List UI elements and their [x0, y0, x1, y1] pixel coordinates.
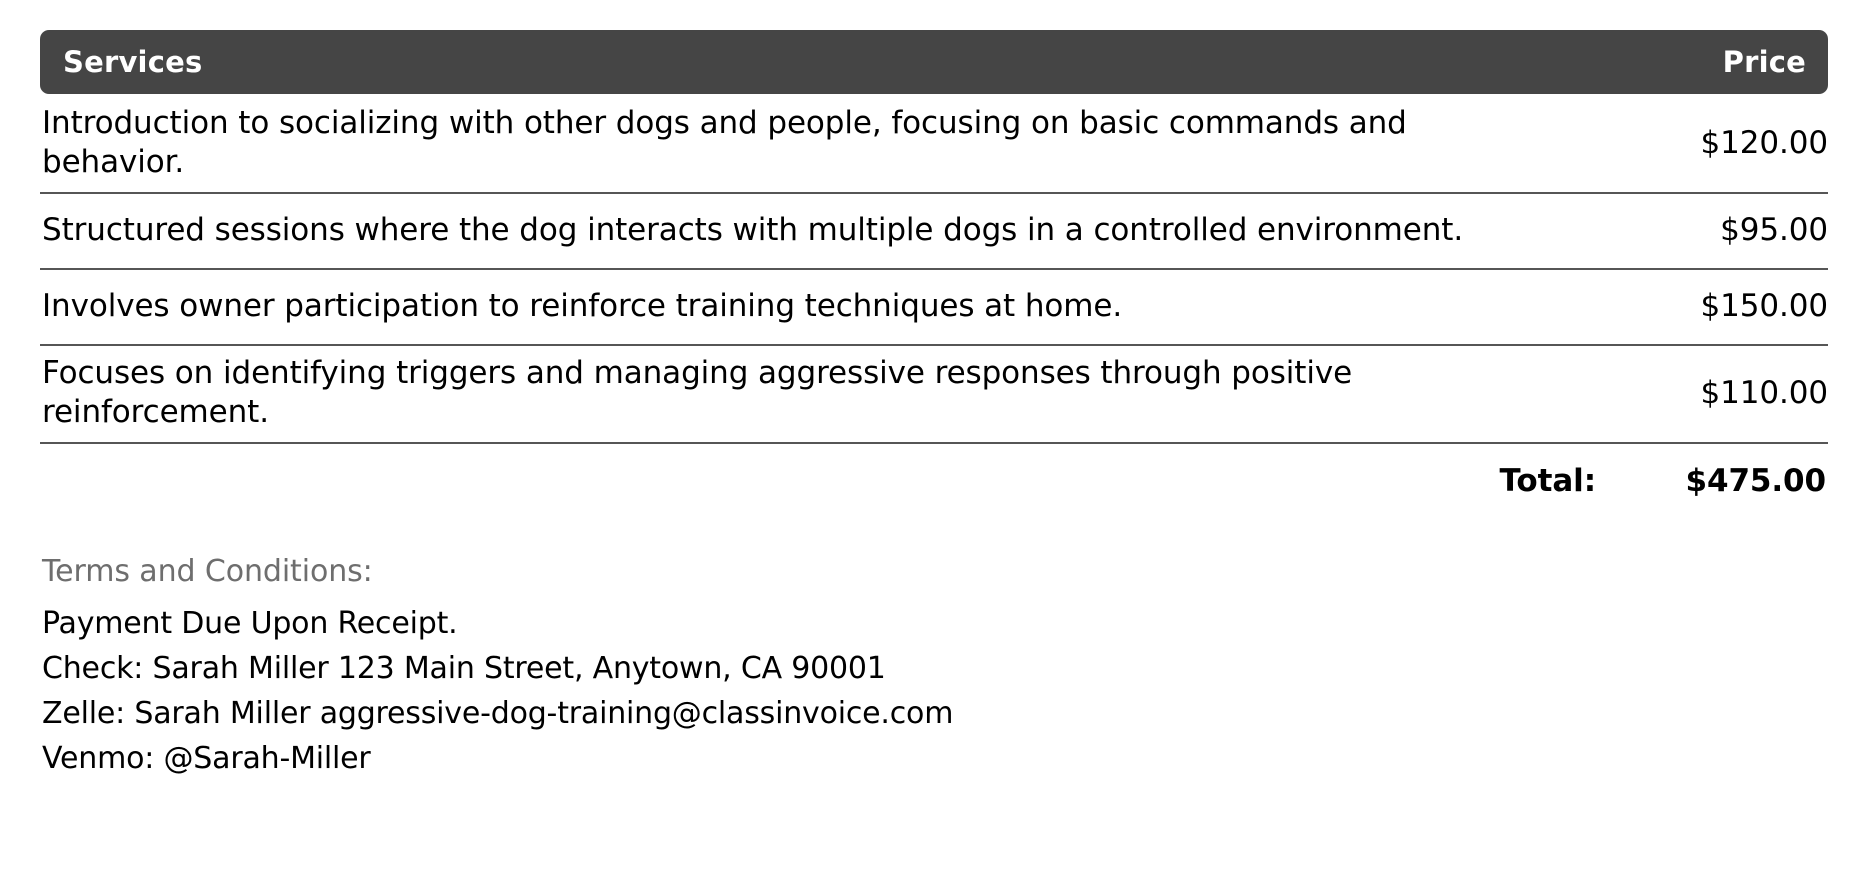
service-price: $120.00 — [1598, 125, 1828, 161]
terms-line-payment-due: Payment Due Upon Receipt. — [42, 601, 1828, 646]
service-price: $95.00 — [1598, 212, 1828, 248]
service-description: Introduction to socializing with other d… — [42, 104, 1532, 182]
total-row: Total: $475.00 — [40, 444, 1828, 518]
table-header-row: Services Price — [40, 30, 1828, 94]
column-header-price: Price — [1723, 48, 1806, 77]
service-description: Focuses on identifying triggers and mana… — [42, 354, 1532, 432]
terms-line-zelle: Zelle: Sarah Miller aggressive-dog-train… — [42, 691, 1828, 736]
service-description: Involves owner participation to reinforc… — [42, 287, 1532, 326]
table-row: Focuses on identifying triggers and mana… — [40, 346, 1828, 444]
terms-and-conditions-section: Terms and Conditions: Payment Due Upon R… — [40, 554, 1828, 781]
service-price: $110.00 — [1598, 375, 1828, 411]
table-row: Structured sessions where the dog intera… — [40, 194, 1828, 270]
services-price-table: Services Price Introduction to socializi… — [40, 0, 1828, 518]
total-label: Total: — [1500, 463, 1597, 499]
table-row: Involves owner participation to reinforc… — [40, 270, 1828, 346]
terms-heading: Terms and Conditions: — [42, 554, 1828, 589]
table-row: Introduction to socializing with other d… — [40, 96, 1828, 194]
service-price: $150.00 — [1598, 288, 1828, 324]
total-value: $475.00 — [1596, 463, 1826, 499]
column-header-services: Services — [63, 48, 202, 77]
terms-line-check: Check: Sarah Miller 123 Main Street, Any… — [42, 646, 1828, 691]
service-description: Structured sessions where the dog intera… — [42, 211, 1532, 250]
terms-line-venmo: Venmo: @Sarah-Miller — [42, 736, 1828, 781]
invoice-page: Services Price Introduction to socializi… — [0, 0, 1868, 870]
